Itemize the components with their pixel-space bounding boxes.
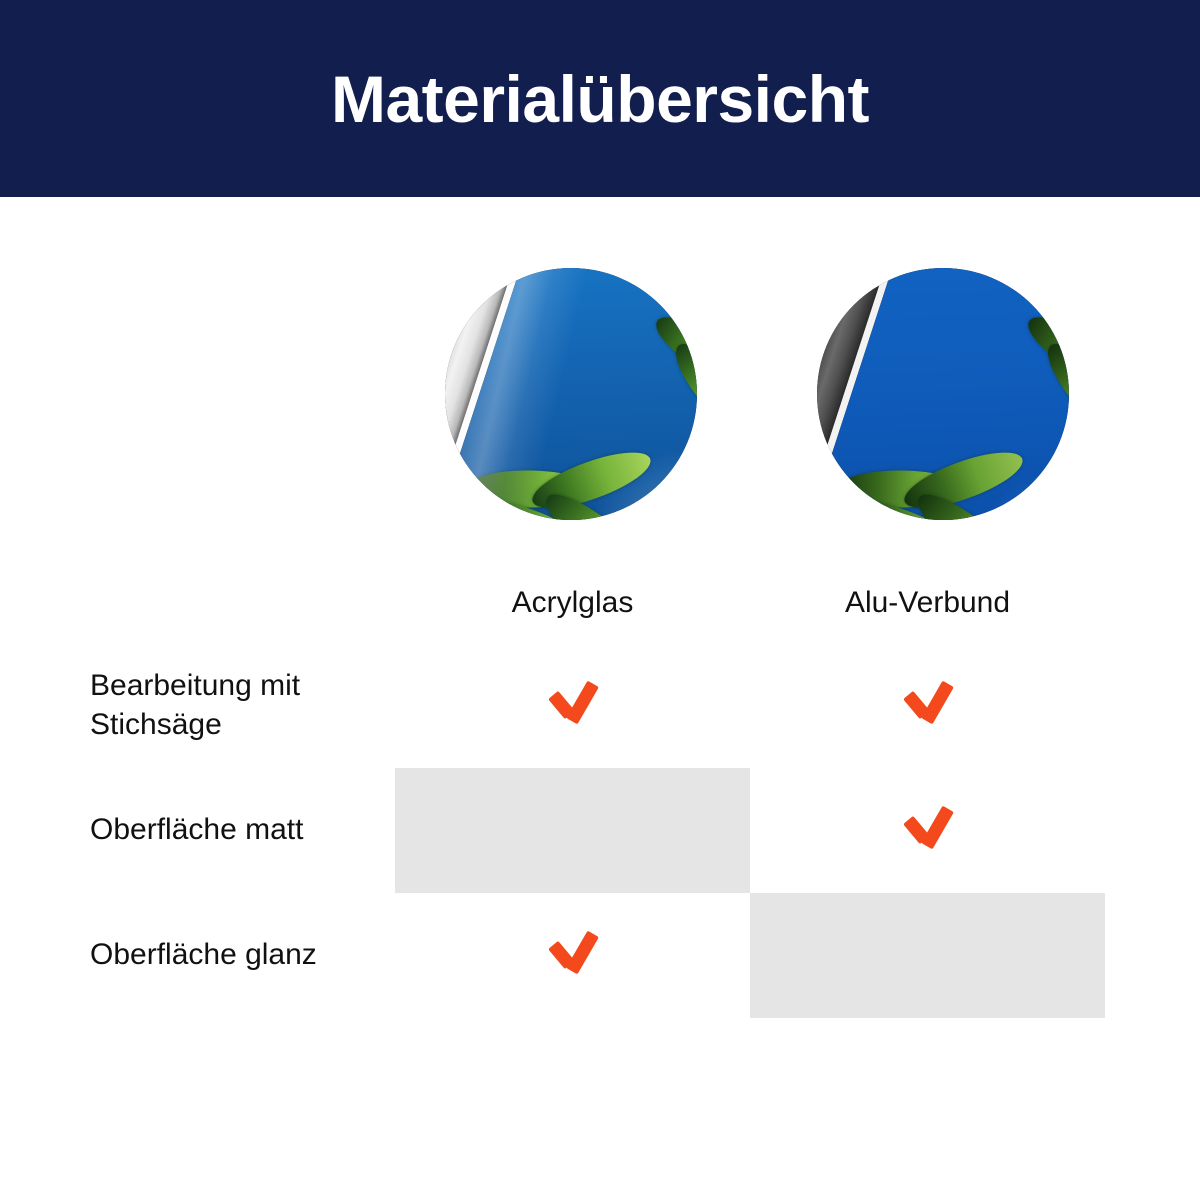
acrylglas-preview-image: [445, 268, 697, 520]
cell-bearbeitung-alu-verbund: [750, 643, 1105, 768]
preview-row: [0, 268, 1200, 524]
table-row: Oberfläche matt: [73, 768, 1105, 893]
cell-matt-alu-verbund: [750, 768, 1105, 893]
table-corner-cell: [73, 563, 395, 643]
row-label-oberflaeche-glanz: Oberfläche glanz: [73, 893, 395, 1018]
check-icon: [905, 681, 951, 723]
check-icon: [550, 931, 596, 973]
alu-verbund-preview-image: [817, 268, 1069, 520]
row-label-line-1: Oberfläche glanz: [90, 938, 317, 971]
row-label-line-1: Oberfläche matt: [90, 813, 303, 846]
check-icon: [905, 806, 951, 848]
row-label-line-2: Stichsäge: [90, 708, 222, 741]
cell-matt-acrylglas: [395, 768, 750, 893]
table-header-row: Acrylglas Alu-Verbund: [73, 563, 1105, 643]
cell-glanz-alu-verbund: [750, 893, 1105, 1018]
page-header: Materialübersicht: [0, 0, 1200, 197]
cell-glanz-acrylglas: [395, 893, 750, 1018]
column-header-alu-verbund: Alu-Verbund: [750, 563, 1105, 643]
row-label-oberflaeche-matt: Oberfläche matt: [73, 768, 395, 893]
cell-bearbeitung-acrylglas: [395, 643, 750, 768]
panel-render: [817, 268, 1069, 520]
table-row: Bearbeitung mit Stichsäge: [73, 643, 1105, 768]
row-label-line-1: Bearbeitung mit: [90, 669, 300, 702]
column-header-acrylglas: Acrylglas: [395, 563, 750, 643]
panel-render: [445, 268, 697, 520]
page-title: Materialübersicht: [331, 66, 869, 132]
material-comparison-table: Acrylglas Alu-Verbund Bearbeitung mit St…: [73, 563, 1105, 1013]
check-icon: [550, 681, 596, 723]
table-row: Oberfläche glanz: [73, 893, 1105, 1018]
row-label-bearbeitung: Bearbeitung mit Stichsäge: [73, 643, 395, 768]
material-overview-page: Materialübersicht: [0, 0, 1200, 1200]
